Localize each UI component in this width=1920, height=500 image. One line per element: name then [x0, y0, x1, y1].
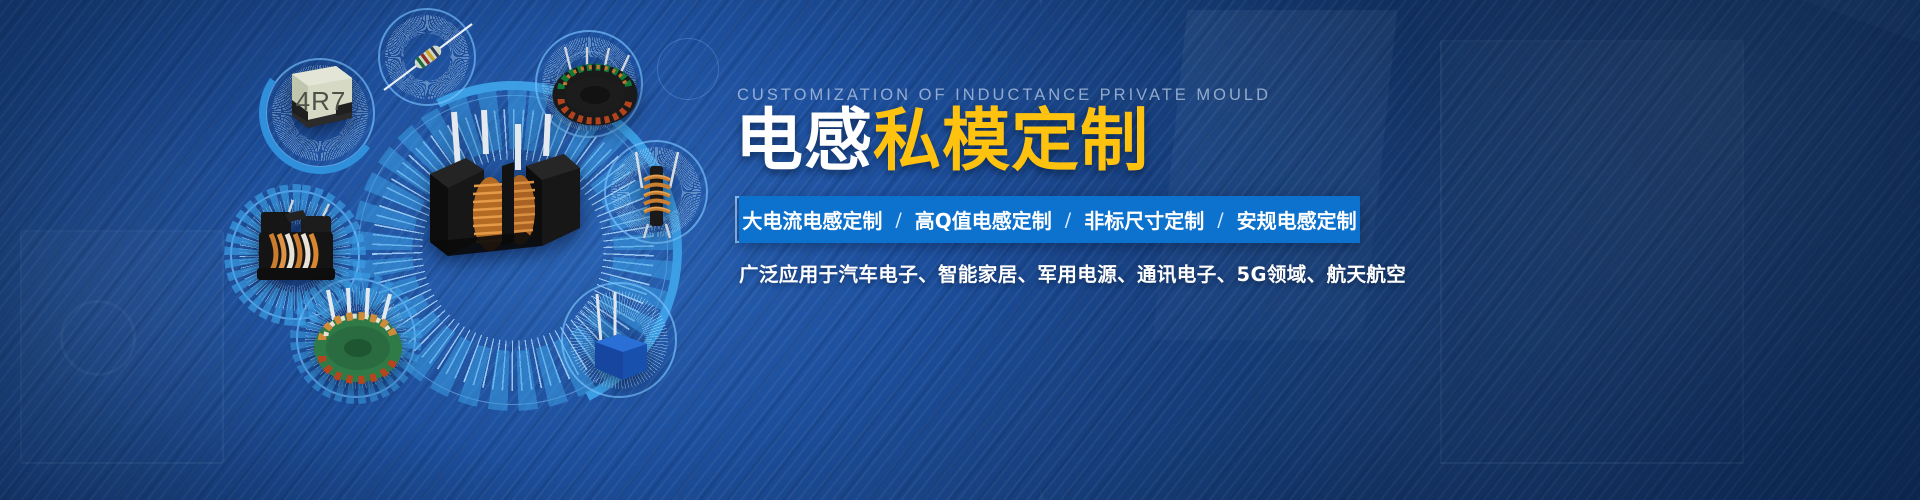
- inductance-custom-mould-banner: 4R7: [0, 0, 1920, 500]
- feature-separator-0: /: [895, 209, 901, 231]
- product-large-common-mode-choke: [414, 110, 584, 280]
- feature-separator-1: /: [1065, 209, 1071, 231]
- page-title-white: 电感: [735, 102, 873, 181]
- feature-separator-2: /: [1217, 209, 1223, 231]
- product-axial-color-ring-inductor: [382, 20, 474, 94]
- hud-ring-corner-small: [657, 38, 719, 100]
- product-common-mode-filter-coil: [245, 198, 349, 290]
- feature-item-3[interactable]: 安规电感定制: [1237, 205, 1357, 234]
- banner-description: 广泛应用于汽车电子、智能家居、军用电源、通讯电子、5G领域、航天航空: [739, 258, 1406, 287]
- product-blue-radial-inductor: [575, 290, 665, 384]
- product-green-toroidal-coil: [306, 286, 410, 386]
- feature-item-0[interactable]: 大电流电感定制: [742, 205, 882, 234]
- page-title-yellow: 私模定制: [873, 102, 1149, 181]
- banner-text-block: CUSTOMIZATION OF INDUCTANCE PRIVATE MOUL…: [735, 0, 1835, 500]
- product-smd-power-inductor: 4R7: [286, 60, 356, 128]
- feature-bar: 大电流电感定制 / 高Q值电感定制 / 非标尺寸定制 / 安规电感定制: [739, 196, 1360, 243]
- page-title: 电感私模定制: [735, 108, 1149, 176]
- product-air-core-rod-inductor: [620, 148, 694, 240]
- feature-item-2[interactable]: 非标尺寸定制: [1084, 205, 1204, 234]
- smd-chip-marking: 4R7: [286, 86, 356, 117]
- feature-item-1[interactable]: 高Q值电感定制: [915, 205, 1052, 234]
